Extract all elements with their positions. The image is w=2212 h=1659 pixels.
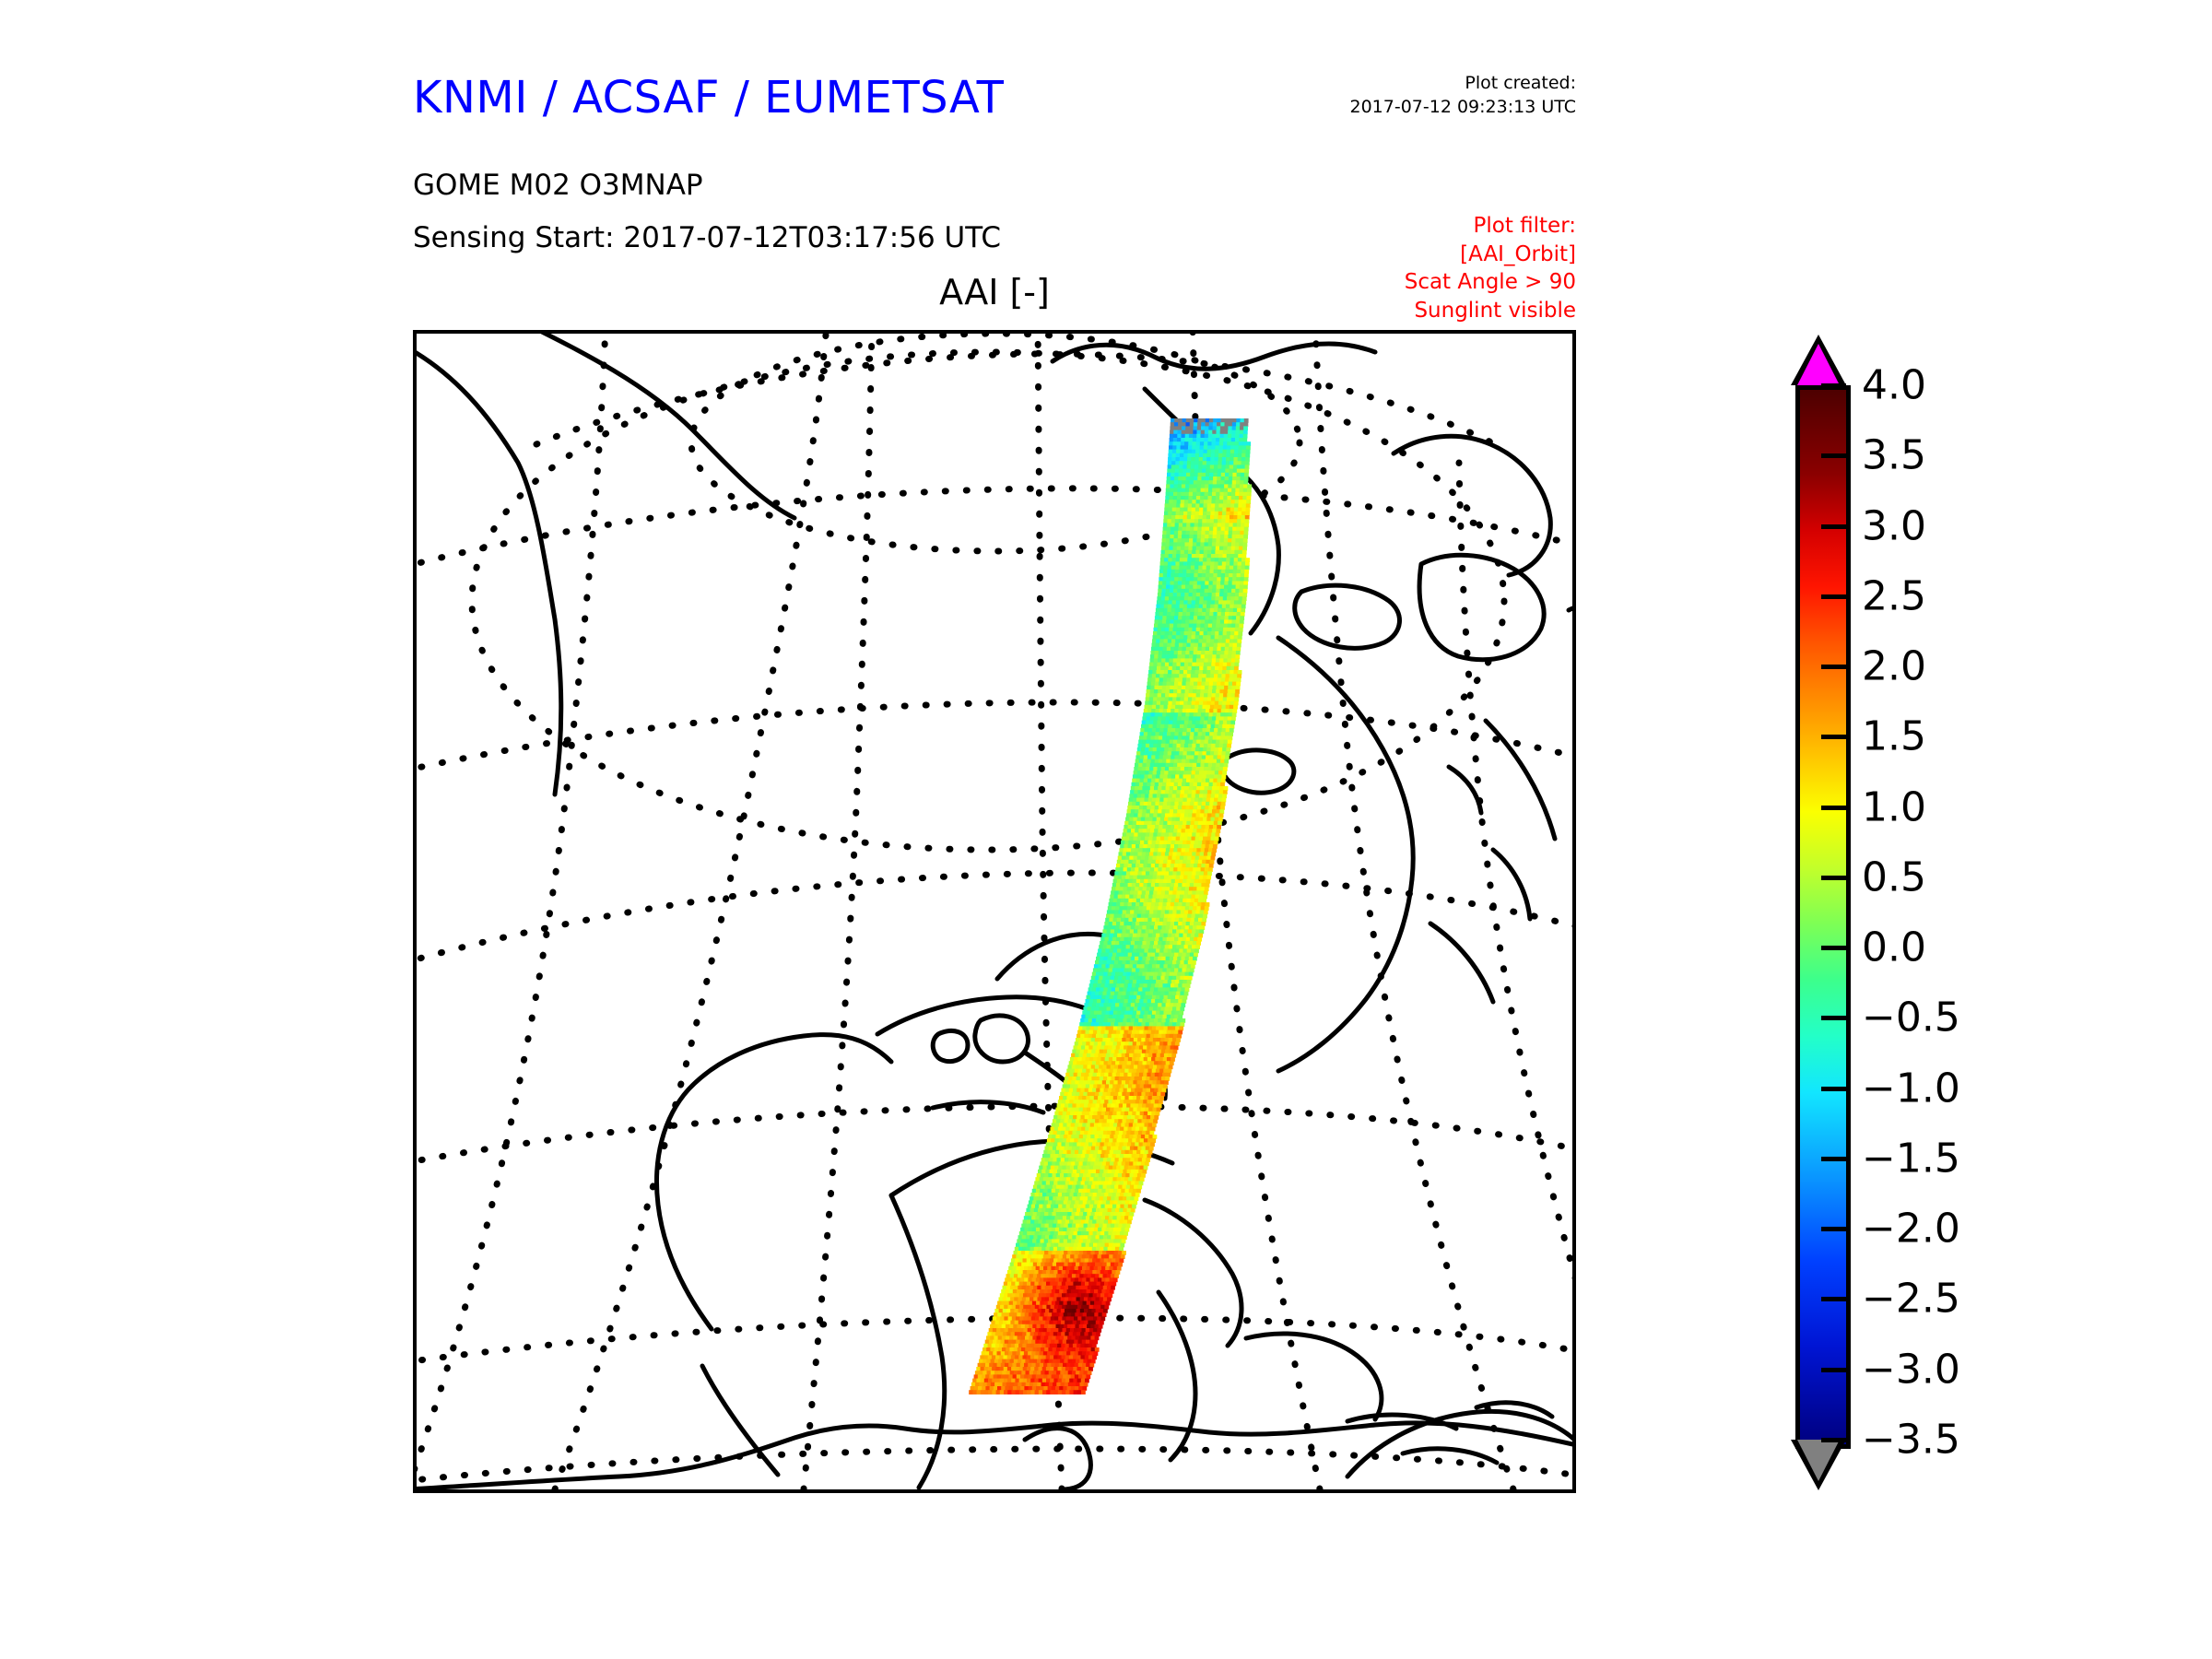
colorbar-tick-label: 3.5 [1862, 432, 1926, 479]
colorbar-tick [1821, 453, 1846, 458]
map-canvas [417, 334, 1572, 1489]
satellite-swath [969, 418, 1252, 1394]
colorbar-tick [1821, 1157, 1846, 1161]
plot-filter-title: Plot filter: [1405, 212, 1576, 241]
colorbar-tick-label: 2.0 [1862, 643, 1926, 690]
graticule [417, 334, 1572, 1484]
colorbar-tick [1821, 1368, 1846, 1372]
colorbar-over-range-arrow [1791, 335, 1846, 385]
colorbar-tick-label: −1.0 [1862, 1065, 1960, 1112]
colorbar-tick [1821, 1438, 1846, 1442]
colorbar-tick [1821, 806, 1846, 810]
colorbar-tick-label: −2.0 [1862, 1206, 1960, 1253]
colorbar-tick [1821, 665, 1846, 669]
colorbar-tick-label: −2.5 [1862, 1276, 1960, 1323]
colorbar-tick [1821, 946, 1846, 950]
colorbar-tick [1821, 1297, 1846, 1301]
colorbar-tick-label: 1.0 [1862, 783, 1926, 830]
colorbar-tick [1821, 876, 1846, 880]
colorbar-gradient [1800, 390, 1846, 1444]
plot-created-block: Plot created: 2017-07-12 09:23:13 UTC [1350, 72, 1577, 119]
colorbar-tick [1821, 383, 1846, 388]
product-name: GOME M02 O3MNAP [413, 169, 703, 202]
plot-filter-line-1: [AAI_Orbit] [1405, 241, 1576, 269]
colorbar-tick [1821, 1227, 1846, 1231]
colorbar: 4.03.53.02.52.01.51.00.50.0−0.5−1.0−1.5−… [1788, 327, 2175, 1498]
plot-created-label: Plot created: [1350, 72, 1577, 96]
organisation-title: KNMI / ACSAF / EUMETSAT [413, 72, 1004, 124]
colorbar-tick-label: 1.5 [1862, 713, 1926, 760]
colorbar-tick-label: −3.0 [1862, 1346, 1960, 1393]
colorbar-tick [1821, 735, 1846, 739]
plot-created-value: 2017-07-12 09:23:13 UTC [1350, 96, 1577, 120]
colorbar-under-range-arrow [1791, 1440, 1846, 1490]
colorbar-tick-label: −3.5 [1862, 1417, 1960, 1464]
sensing-start: Sensing Start: 2017-07-12T03:17:56 UTC [413, 221, 1001, 254]
colorbar-tick [1821, 1087, 1846, 1091]
colorbar-tick-label: −1.5 [1862, 1135, 1960, 1182]
colorbar-tick-label: 0.5 [1862, 853, 1926, 900]
map-title: AAI [-] [413, 272, 1576, 312]
colorbar-tick-label: 3.0 [1862, 502, 1926, 549]
colorbar-tick-label: −0.5 [1862, 994, 1960, 1041]
colorbar-tick [1821, 594, 1846, 599]
colorbar-tick-label: 4.0 [1862, 362, 1926, 409]
colorbar-tick-label: 0.0 [1862, 924, 1926, 971]
map-panel [413, 330, 1576, 1493]
colorbar-tick [1821, 524, 1846, 529]
colorbar-bar [1795, 385, 1851, 1449]
colorbar-tick [1821, 1016, 1846, 1020]
colorbar-tick-label: 2.5 [1862, 572, 1926, 619]
